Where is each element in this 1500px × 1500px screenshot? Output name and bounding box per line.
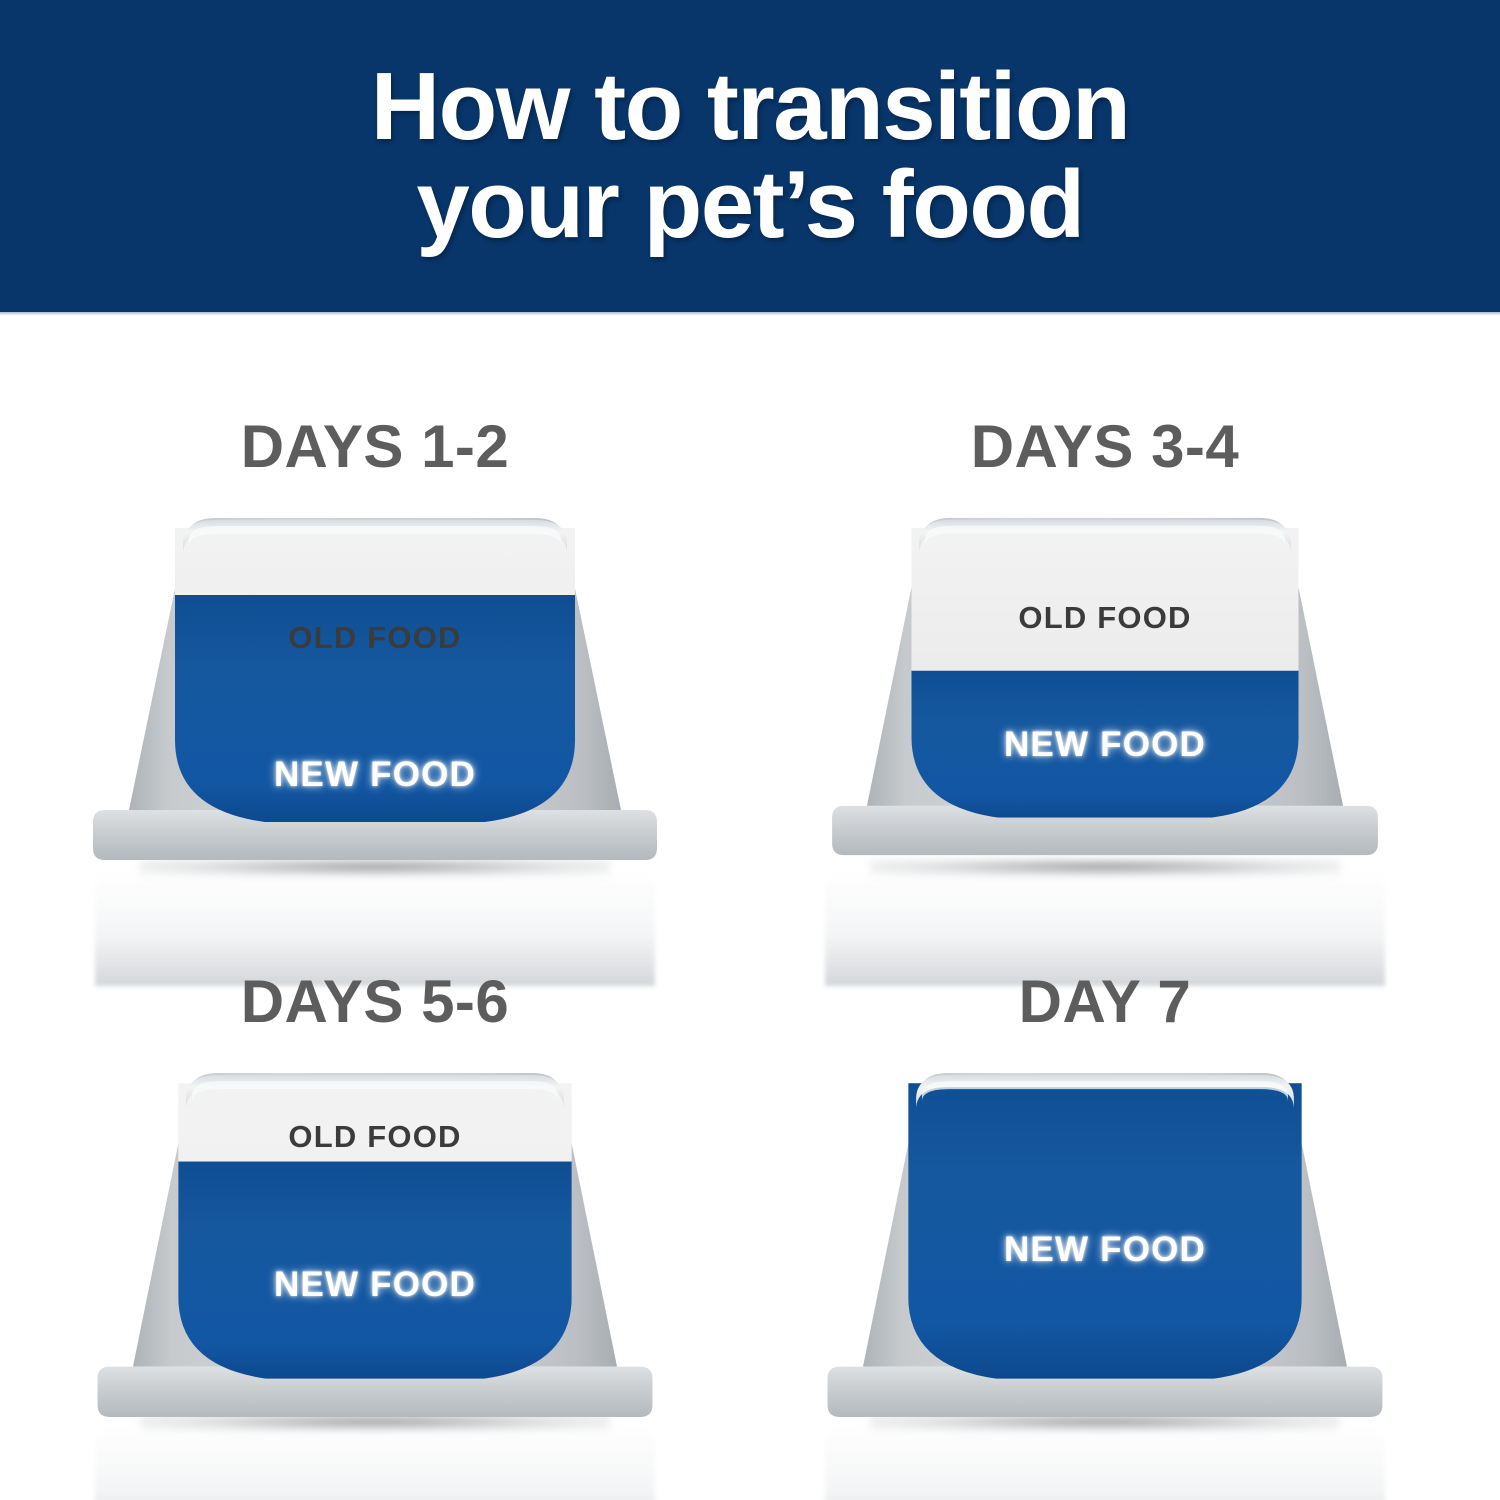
stage-day-label: DAYS 1-2 <box>0 412 750 481</box>
stage-card-days-3-4: DAYS 3-4 <box>730 330 1480 915</box>
stage-card-day-7: DAY 7 <box>730 885 1480 1470</box>
stage-day-label: DAY 7 <box>730 967 1480 1036</box>
bowl-cavity <box>898 1075 1311 1387</box>
infographic-page: How to transition your pet’s food DAYS 1… <box>0 0 1500 1500</box>
bowl-graphic <box>65 510 685 870</box>
food-bowl-days-5-6: OLD FOOD NEW FOOD <box>70 1065 680 1427</box>
header-banner: How to transition your pet’s food <box>0 0 1500 312</box>
page-title-line-2: your pet’s food <box>416 156 1083 254</box>
bowl-graphic <box>800 1065 1410 1427</box>
new-food-fill <box>902 671 1308 826</box>
stage-day-label: DAYS 3-4 <box>730 412 1480 481</box>
new-food-fill <box>898 1075 1311 1387</box>
stage-day-label: DAYS 5-6 <box>0 967 750 1036</box>
bowl-cavity <box>902 520 1308 826</box>
bowl-graphic <box>70 1065 680 1427</box>
bowl-cavity <box>168 1075 581 1387</box>
transition-stages-grid: DAYS 1-2 <box>0 330 1500 1500</box>
new-food-fill <box>168 1162 581 1387</box>
food-bowl-day-7: NEW FOOD <box>800 1065 1410 1427</box>
bowl-cavity <box>165 520 585 830</box>
food-bowl-days-3-4: OLD FOOD NEW FOOD <box>805 510 1405 865</box>
new-food-fill <box>165 595 585 830</box>
stage-card-days-1-2: DAYS 1-2 <box>0 330 750 915</box>
header-title-block: How to transition your pet’s food <box>0 0 1500 312</box>
page-title-line-1: How to transition <box>371 58 1129 156</box>
bowl-graphic <box>805 510 1405 865</box>
stage-card-days-5-6: DAYS 5-6 <box>0 885 750 1470</box>
bowl-reflection <box>95 1421 655 1500</box>
food-bowl-days-1-2: OLD FOOD NEW FOOD <box>65 510 685 870</box>
header-divider <box>0 312 1500 315</box>
bowl-reflection <box>825 1421 1385 1500</box>
